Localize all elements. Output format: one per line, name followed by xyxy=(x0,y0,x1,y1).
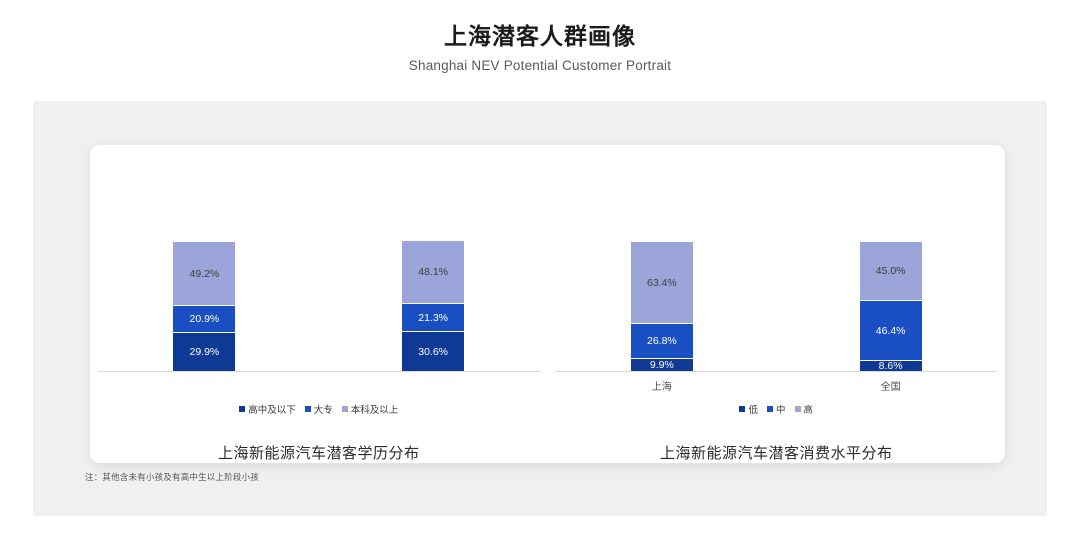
bar-segment[interactable]: 45.0% xyxy=(860,241,922,300)
legend-swatch-icon xyxy=(305,406,311,412)
bar-segment[interactable]: 63.4% xyxy=(631,241,693,323)
bar-segment[interactable]: 49.2% xyxy=(173,241,235,305)
bar-segment[interactable]: 9.9% xyxy=(631,358,693,371)
legend-label: 高 xyxy=(804,402,814,416)
legend-label: 中 xyxy=(776,402,786,416)
bar-segment[interactable]: 30.6% xyxy=(402,331,464,371)
legend-item[interactable]: 低 xyxy=(739,402,758,416)
plot-area: 63.4%26.8%9.9%45.0%46.4%8.6% xyxy=(548,187,1006,372)
chart-card: 49.2%20.9%29.9%48.1%21.3%30.6%高中及以下大专本科及… xyxy=(90,145,1005,463)
stacked-bar[interactable]: 45.0%46.4%8.6% xyxy=(860,241,922,371)
chart-legend: 高中及以下大专本科及以上 xyxy=(90,402,548,416)
chart-caption: 上海新能源汽车潜客学历分布 xyxy=(90,442,548,463)
x-axis-line xyxy=(556,371,998,372)
legend-swatch-icon xyxy=(767,406,773,412)
slide-panel: 49.2%20.9%29.9%48.1%21.3%30.6%高中及以下大专本科及… xyxy=(33,101,1047,516)
bar-segment[interactable]: 21.3% xyxy=(402,303,464,331)
legend-swatch-icon xyxy=(739,406,745,412)
plot-area: 49.2%20.9%29.9%48.1%21.3%30.6% xyxy=(90,187,548,372)
stacked-bar[interactable]: 49.2%20.9%29.9% xyxy=(173,241,235,371)
bar-group: 49.2%20.9%29.9%48.1%21.3%30.6% xyxy=(90,182,548,371)
x-axis-labels: 上海全国 xyxy=(548,376,1006,394)
legend-label: 高中及以下 xyxy=(248,402,296,416)
stacked-bar[interactable]: 63.4%26.8%9.9% xyxy=(631,241,693,371)
legend-item[interactable]: 高中及以下 xyxy=(239,402,296,416)
bar-segment[interactable]: 29.9% xyxy=(173,332,235,371)
footnote: 注：其他含未有小孩及有高中生以上阶段小孩 xyxy=(85,471,259,483)
bar-segment[interactable]: 20.9% xyxy=(173,305,235,332)
chart-block: 49.2%20.9%29.9%48.1%21.3%30.6%高中及以下大专本科及… xyxy=(90,145,548,463)
legend-label: 本科及以上 xyxy=(351,402,399,416)
page-subtitle: Shanghai NEV Potential Customer Portrait xyxy=(0,58,1080,73)
legend-swatch-icon xyxy=(342,406,348,412)
page-title: 上海潜客人群画像 xyxy=(0,22,1080,51)
legend-item[interactable]: 大专 xyxy=(305,402,333,416)
legend-item[interactable]: 本科及以上 xyxy=(342,402,399,416)
bar-group: 63.4%26.8%9.9%45.0%46.4%8.6% xyxy=(548,182,1006,371)
bar-segment[interactable]: 26.8% xyxy=(631,323,693,358)
x-axis-label: 上海 xyxy=(631,378,693,393)
charts-container: 49.2%20.9%29.9%48.1%21.3%30.6%高中及以下大专本科及… xyxy=(90,145,1005,463)
page-header: 上海潜客人群画像 Shanghai NEV Potential Customer… xyxy=(0,0,1080,73)
legend-item[interactable]: 高 xyxy=(795,402,814,416)
x-axis-line xyxy=(98,371,540,372)
stacked-bar[interactable]: 48.1%21.3%30.6% xyxy=(402,240,464,371)
chart-legend: 低中高 xyxy=(548,402,1006,416)
legend-item[interactable]: 中 xyxy=(767,402,786,416)
chart-block: 63.4%26.8%9.9%45.0%46.4%8.6%上海全国低中高上海新能源… xyxy=(548,145,1006,463)
x-axis-label: 全国 xyxy=(860,378,922,393)
chart-caption: 上海新能源汽车潜客消费水平分布 xyxy=(548,442,1006,463)
x-axis-labels xyxy=(90,376,548,394)
bar-segment[interactable]: 8.6% xyxy=(860,360,922,371)
bar-segment[interactable]: 46.4% xyxy=(860,300,922,360)
legend-swatch-icon xyxy=(795,406,801,412)
legend-swatch-icon xyxy=(239,406,245,412)
legend-label: 低 xyxy=(748,402,758,416)
bar-segment[interactable]: 48.1% xyxy=(402,240,464,303)
legend-label: 大专 xyxy=(314,402,333,416)
